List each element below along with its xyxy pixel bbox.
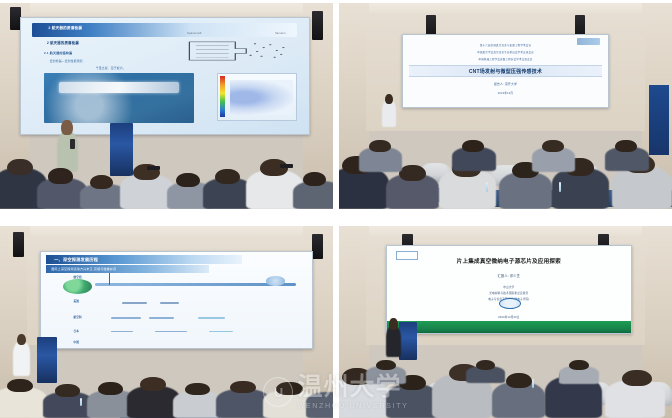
diagram-label-vacuum: Vacuum bbox=[275, 32, 286, 35]
slide-title: 片上集成真空微纳电子源芯片及应用探索 bbox=[457, 257, 561, 265]
slide-line-3: 中国机械工程学会表面工程分会学术交流会议 bbox=[478, 57, 532, 61]
lecture-room-bl: 一、深空探测发展历程 国际上深空探测活动方兴未艾,高频与碰撞并存 欧空局 美国 … bbox=[0, 226, 333, 418]
slide-line-1: 2 航天器的质谱检漏 bbox=[47, 40, 79, 45]
audience-member bbox=[55, 384, 80, 396]
presenter-head bbox=[17, 334, 26, 346]
audience-member bbox=[230, 381, 257, 394]
audience-member bbox=[48, 168, 73, 183]
ceiling-speaker-icon bbox=[312, 11, 323, 40]
water-bottle-icon bbox=[532, 379, 534, 388]
leak-diagram: Spacecraft Vacuum bbox=[185, 33, 294, 63]
photo-collage: 2 航天器的质谱检漏 2 航天器的质谱检漏 2.1 航天器的结构漏 密封检漏—密… bbox=[0, 0, 672, 418]
slide-header-title: 一、深空探测发展历程 bbox=[54, 257, 98, 263]
photo-top-right: 第十六届全国真空冶金与表面工程学术会议 中国真空学会真空冶金专业委员会学术交流会… bbox=[339, 3, 672, 209]
projection-screen-tl: 2 航天器的质谱检漏 2 航天器的质谱检漏 2.1 航天器的结构漏 密封检漏—密… bbox=[20, 17, 310, 134]
audience-member bbox=[622, 370, 652, 386]
row-label-esa: 欧空局 bbox=[73, 275, 81, 279]
audience-member bbox=[7, 159, 34, 176]
space-station-image bbox=[44, 73, 194, 124]
water-bottle-icon bbox=[559, 182, 561, 192]
audience-member bbox=[476, 360, 496, 370]
lecture-room-tl: 2 航天器的质谱检漏 2 航天器的质谱检漏 2.1 航天器的结构漏 密封检漏—密… bbox=[0, 3, 333, 209]
slide-affiliation-1: 中山大学 bbox=[503, 285, 514, 289]
lecture-room-tr: 第十六届全国真空冶金与表面工程学术会议 中国真空学会真空冶金专业委员会学术交流会… bbox=[339, 3, 672, 209]
photo-bottom-left: 一、深空探测发展历程 国际上深空探测活动方兴未艾,高频与碰撞并存 欧空局 美国 … bbox=[0, 226, 333, 418]
audience-member bbox=[376, 360, 396, 370]
audience-bl bbox=[0, 357, 333, 418]
diagram-text-block bbox=[111, 331, 133, 333]
audience-br bbox=[339, 318, 672, 418]
timeline-marker bbox=[109, 273, 111, 285]
ceiling-speaker-icon bbox=[312, 234, 323, 259]
simulation-plot bbox=[217, 73, 298, 121]
audience-member bbox=[399, 165, 426, 181]
slide-title: CNT场发射与微型压强传感技术 bbox=[469, 68, 542, 75]
ceiling-speaker-icon bbox=[13, 232, 24, 257]
audience-member bbox=[303, 172, 326, 186]
slide-header-band: 一、深空探测发展历程 bbox=[46, 255, 241, 265]
slide-presenter: 汇报人: 邓少芝 bbox=[498, 273, 521, 278]
audience-member bbox=[569, 360, 589, 370]
row-label-china: 中国 bbox=[73, 340, 79, 344]
leak-schematic-icon bbox=[185, 39, 294, 63]
audience-member bbox=[185, 383, 210, 395]
audience-member bbox=[615, 140, 637, 152]
photo-top-left: 2 航天器的质谱检漏 2 航天器的质谱检漏 2.1 航天器的结构漏 密封检漏—密… bbox=[0, 3, 333, 209]
diagram-text-block bbox=[160, 302, 179, 304]
iss-structure-icon bbox=[59, 82, 179, 93]
diagram-text-block bbox=[209, 331, 233, 333]
row-label-usa: 美国 bbox=[73, 299, 79, 303]
row-label-aero: 航空科 bbox=[73, 315, 81, 319]
audience-member bbox=[369, 140, 391, 152]
audience-member bbox=[306, 392, 333, 418]
slide-line-4: 千里之堤、溃于蚁穴。 bbox=[96, 66, 126, 70]
phone-icon bbox=[280, 164, 293, 168]
audience-tl bbox=[0, 139, 333, 209]
photo-bottom-right: 片上集成真空微纳电子源芯片及应用探索 汇报人: 邓少芝 中山大学 光电材料与技术… bbox=[339, 226, 672, 418]
nozzle-flow-field bbox=[230, 80, 293, 115]
diagram-text-block bbox=[149, 317, 173, 319]
water-bottle-icon bbox=[486, 182, 488, 192]
slide-title-band: CNT场发射与微型压强传感技术 bbox=[409, 65, 601, 77]
slide-line-2: 2.1 航天器的结构漏 bbox=[44, 51, 72, 55]
audience-member bbox=[276, 382, 303, 395]
colorbar-legend bbox=[220, 76, 225, 117]
diagram-label-spacecraft: Spacecraft bbox=[187, 32, 201, 35]
audience-member bbox=[462, 140, 484, 152]
audience-member bbox=[98, 382, 123, 395]
audience-member bbox=[7, 379, 34, 393]
audience-member bbox=[215, 169, 240, 184]
audience-member bbox=[176, 173, 199, 187]
slide-line-1: 第十六届全国真空冶金与表面工程学术会议 bbox=[480, 43, 531, 47]
university-logo-icon bbox=[396, 251, 418, 260]
audience-member bbox=[506, 373, 533, 388]
slide-line-3: 密封检漏—密封性能测控, bbox=[50, 59, 84, 63]
slide-sub-band: 国际上深空探测活动方兴未艾,高频与碰撞并存 bbox=[46, 265, 209, 273]
audience-tr bbox=[339, 85, 672, 209]
audience-member bbox=[140, 377, 167, 391]
projection-screen-bl: 一、深空探测发展历程 国际上深空探测活动方兴未艾,高频与碰撞并存 欧空局 美国 … bbox=[40, 251, 313, 349]
diagram-text-block bbox=[111, 317, 141, 319]
diagram-text-block bbox=[198, 317, 225, 319]
probe-icon bbox=[266, 276, 285, 286]
university-seal-icon bbox=[499, 298, 521, 309]
slide-sub-title: 国际上深空探测活动方兴未艾,高频与碰撞并存 bbox=[51, 267, 116, 271]
phone-icon bbox=[147, 166, 160, 170]
university-logo-icon bbox=[577, 38, 599, 44]
presenter-head bbox=[61, 120, 72, 134]
slide-line-2: 中国真空学会真空冶金专业委员会学术交流会议 bbox=[477, 50, 534, 54]
slide-affiliation-2: 光电材料与技术国家重点实验室 bbox=[489, 291, 528, 295]
row-label-japan: 日本 bbox=[73, 329, 79, 333]
diagram-text-block bbox=[122, 302, 146, 304]
water-bottle-icon bbox=[80, 398, 82, 405]
slide-header-title: 2 航天器的质谱检漏 bbox=[48, 26, 82, 31]
diagram-text-block bbox=[155, 331, 188, 333]
audience-member bbox=[542, 140, 564, 152]
timeline-axis bbox=[95, 283, 296, 286]
lecture-room-br: 片上集成真空微纳电子源芯片及应用探索 汇报人: 邓少芝 中山大学 光电材料与技术… bbox=[339, 226, 672, 418]
audience-member bbox=[90, 175, 113, 189]
earth-globe-icon bbox=[63, 279, 93, 294]
